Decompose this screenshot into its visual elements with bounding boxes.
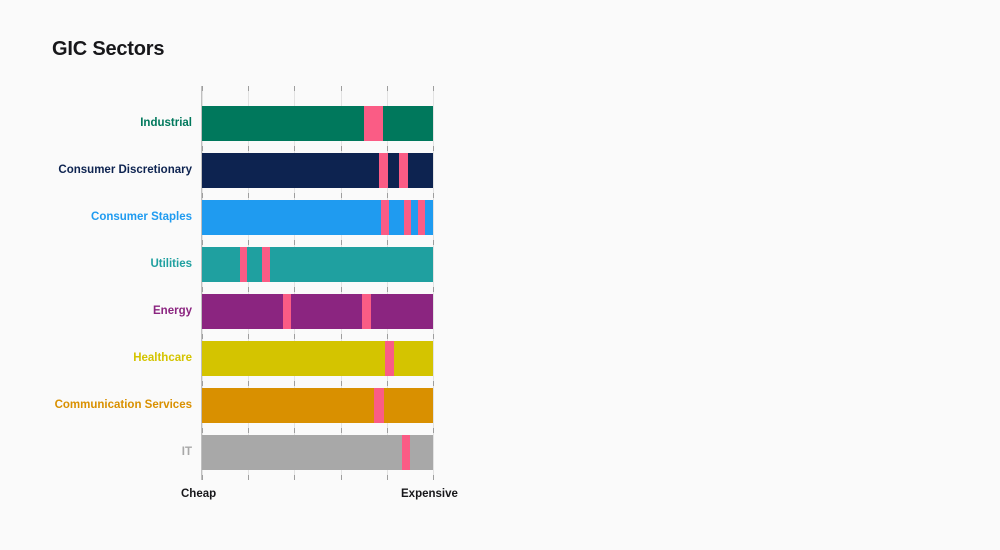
x-axis-tick [341,334,342,339]
category-label-communication-services: Communication Services [0,388,192,423]
bar-row[interactable] [202,200,433,235]
x-axis-tick [202,193,203,198]
x-axis-tick [387,193,388,198]
x-axis-tick [433,287,434,292]
x-axis-tick [202,287,203,292]
valuation-marker[interactable] [379,153,388,188]
x-axis-tick [294,86,295,91]
category-label-industrial: Industrial [0,106,192,141]
x-axis-tick [341,86,342,91]
sector-range-bar[interactable] [202,435,433,470]
x-axis-label-cheap: Cheap [181,488,216,500]
x-axis-tick [202,334,203,339]
sector-range-bar[interactable] [202,200,433,235]
bar-row[interactable] [202,435,433,470]
x-axis-tick [202,86,203,91]
x-axis-tick [248,334,249,339]
valuation-marker[interactable] [418,200,425,235]
x-axis-tick [248,193,249,198]
category-label-healthcare: Healthcare [0,341,192,376]
x-axis-tick [248,287,249,292]
x-axis-tick [294,287,295,292]
x-axis-label-expensive: Expensive [401,488,458,500]
x-axis-tick [433,428,434,433]
category-label-energy: Energy [0,294,192,329]
sector-range-bar[interactable] [202,247,433,282]
x-axis-tick [433,146,434,151]
x-axis-tick [387,475,388,480]
x-axis-tick [387,381,388,386]
valuation-marker[interactable] [399,153,408,188]
bar-row[interactable] [202,294,433,329]
x-axis-tick [341,475,342,480]
bar-row[interactable] [202,388,433,423]
x-axis-tick [294,428,295,433]
x-axis-tick [433,193,434,198]
x-axis-tick [248,475,249,480]
category-label-it: IT [0,435,192,470]
x-axis-tick [433,475,434,480]
valuation-marker[interactable] [283,294,291,329]
x-axis-tick [202,381,203,386]
valuation-marker[interactable] [240,247,247,282]
x-axis-tick [433,334,434,339]
sector-range-bar[interactable] [202,106,433,141]
x-axis-tick [387,428,388,433]
x-axis-tick [294,193,295,198]
x-axis-tick [387,86,388,91]
x-axis-tick [341,146,342,151]
x-axis-tick [433,381,434,386]
x-axis-tick [294,240,295,245]
x-axis-tick [294,475,295,480]
x-axis-tick [248,86,249,91]
valuation-marker[interactable] [262,247,270,282]
x-axis-tick [294,146,295,151]
x-axis-tick [341,381,342,386]
valuation-marker[interactable] [402,435,410,470]
x-axis-tick [248,428,249,433]
valuation-marker[interactable] [385,341,394,376]
x-axis-tick [248,381,249,386]
x-axis-tick [202,475,203,480]
x-axis-tick [202,240,203,245]
valuation-marker[interactable] [374,388,384,423]
x-axis-tick [387,287,388,292]
plot-area [202,86,433,480]
valuation-marker[interactable] [381,200,389,235]
category-label-consumer-staples: Consumer Staples [0,200,192,235]
valuation-marker[interactable] [362,294,371,329]
x-axis-tick [248,146,249,151]
x-axis-tick [433,86,434,91]
sector-range-bar[interactable] [202,388,433,423]
x-axis-tick [341,240,342,245]
chart-canvas: GIC Sectors IndustrialConsumer Discretio… [0,0,1000,550]
x-axis-tick [202,146,203,151]
x-axis-tick [202,428,203,433]
bar-row[interactable] [202,106,433,141]
bar-row[interactable] [202,341,433,376]
x-axis-tick [341,193,342,198]
sector-range-bar[interactable] [202,341,433,376]
valuation-marker[interactable] [404,200,411,235]
page-title: GIC Sectors [52,38,164,61]
x-axis-tick [433,240,434,245]
x-axis-tick [294,334,295,339]
x-axis-tick [248,240,249,245]
x-axis-tick [294,381,295,386]
x-axis-tick [341,287,342,292]
x-axis-tick [387,334,388,339]
x-axis-tick [341,428,342,433]
valuation-marker[interactable] [364,106,383,141]
bar-row[interactable] [202,153,433,188]
category-label-utilities: Utilities [0,247,192,282]
x-axis-tick [387,146,388,151]
bar-row[interactable] [202,247,433,282]
category-label-consumer-discretionary: Consumer Discretionary [0,153,192,188]
x-axis-tick [387,240,388,245]
sector-range-bar[interactable] [202,294,433,329]
